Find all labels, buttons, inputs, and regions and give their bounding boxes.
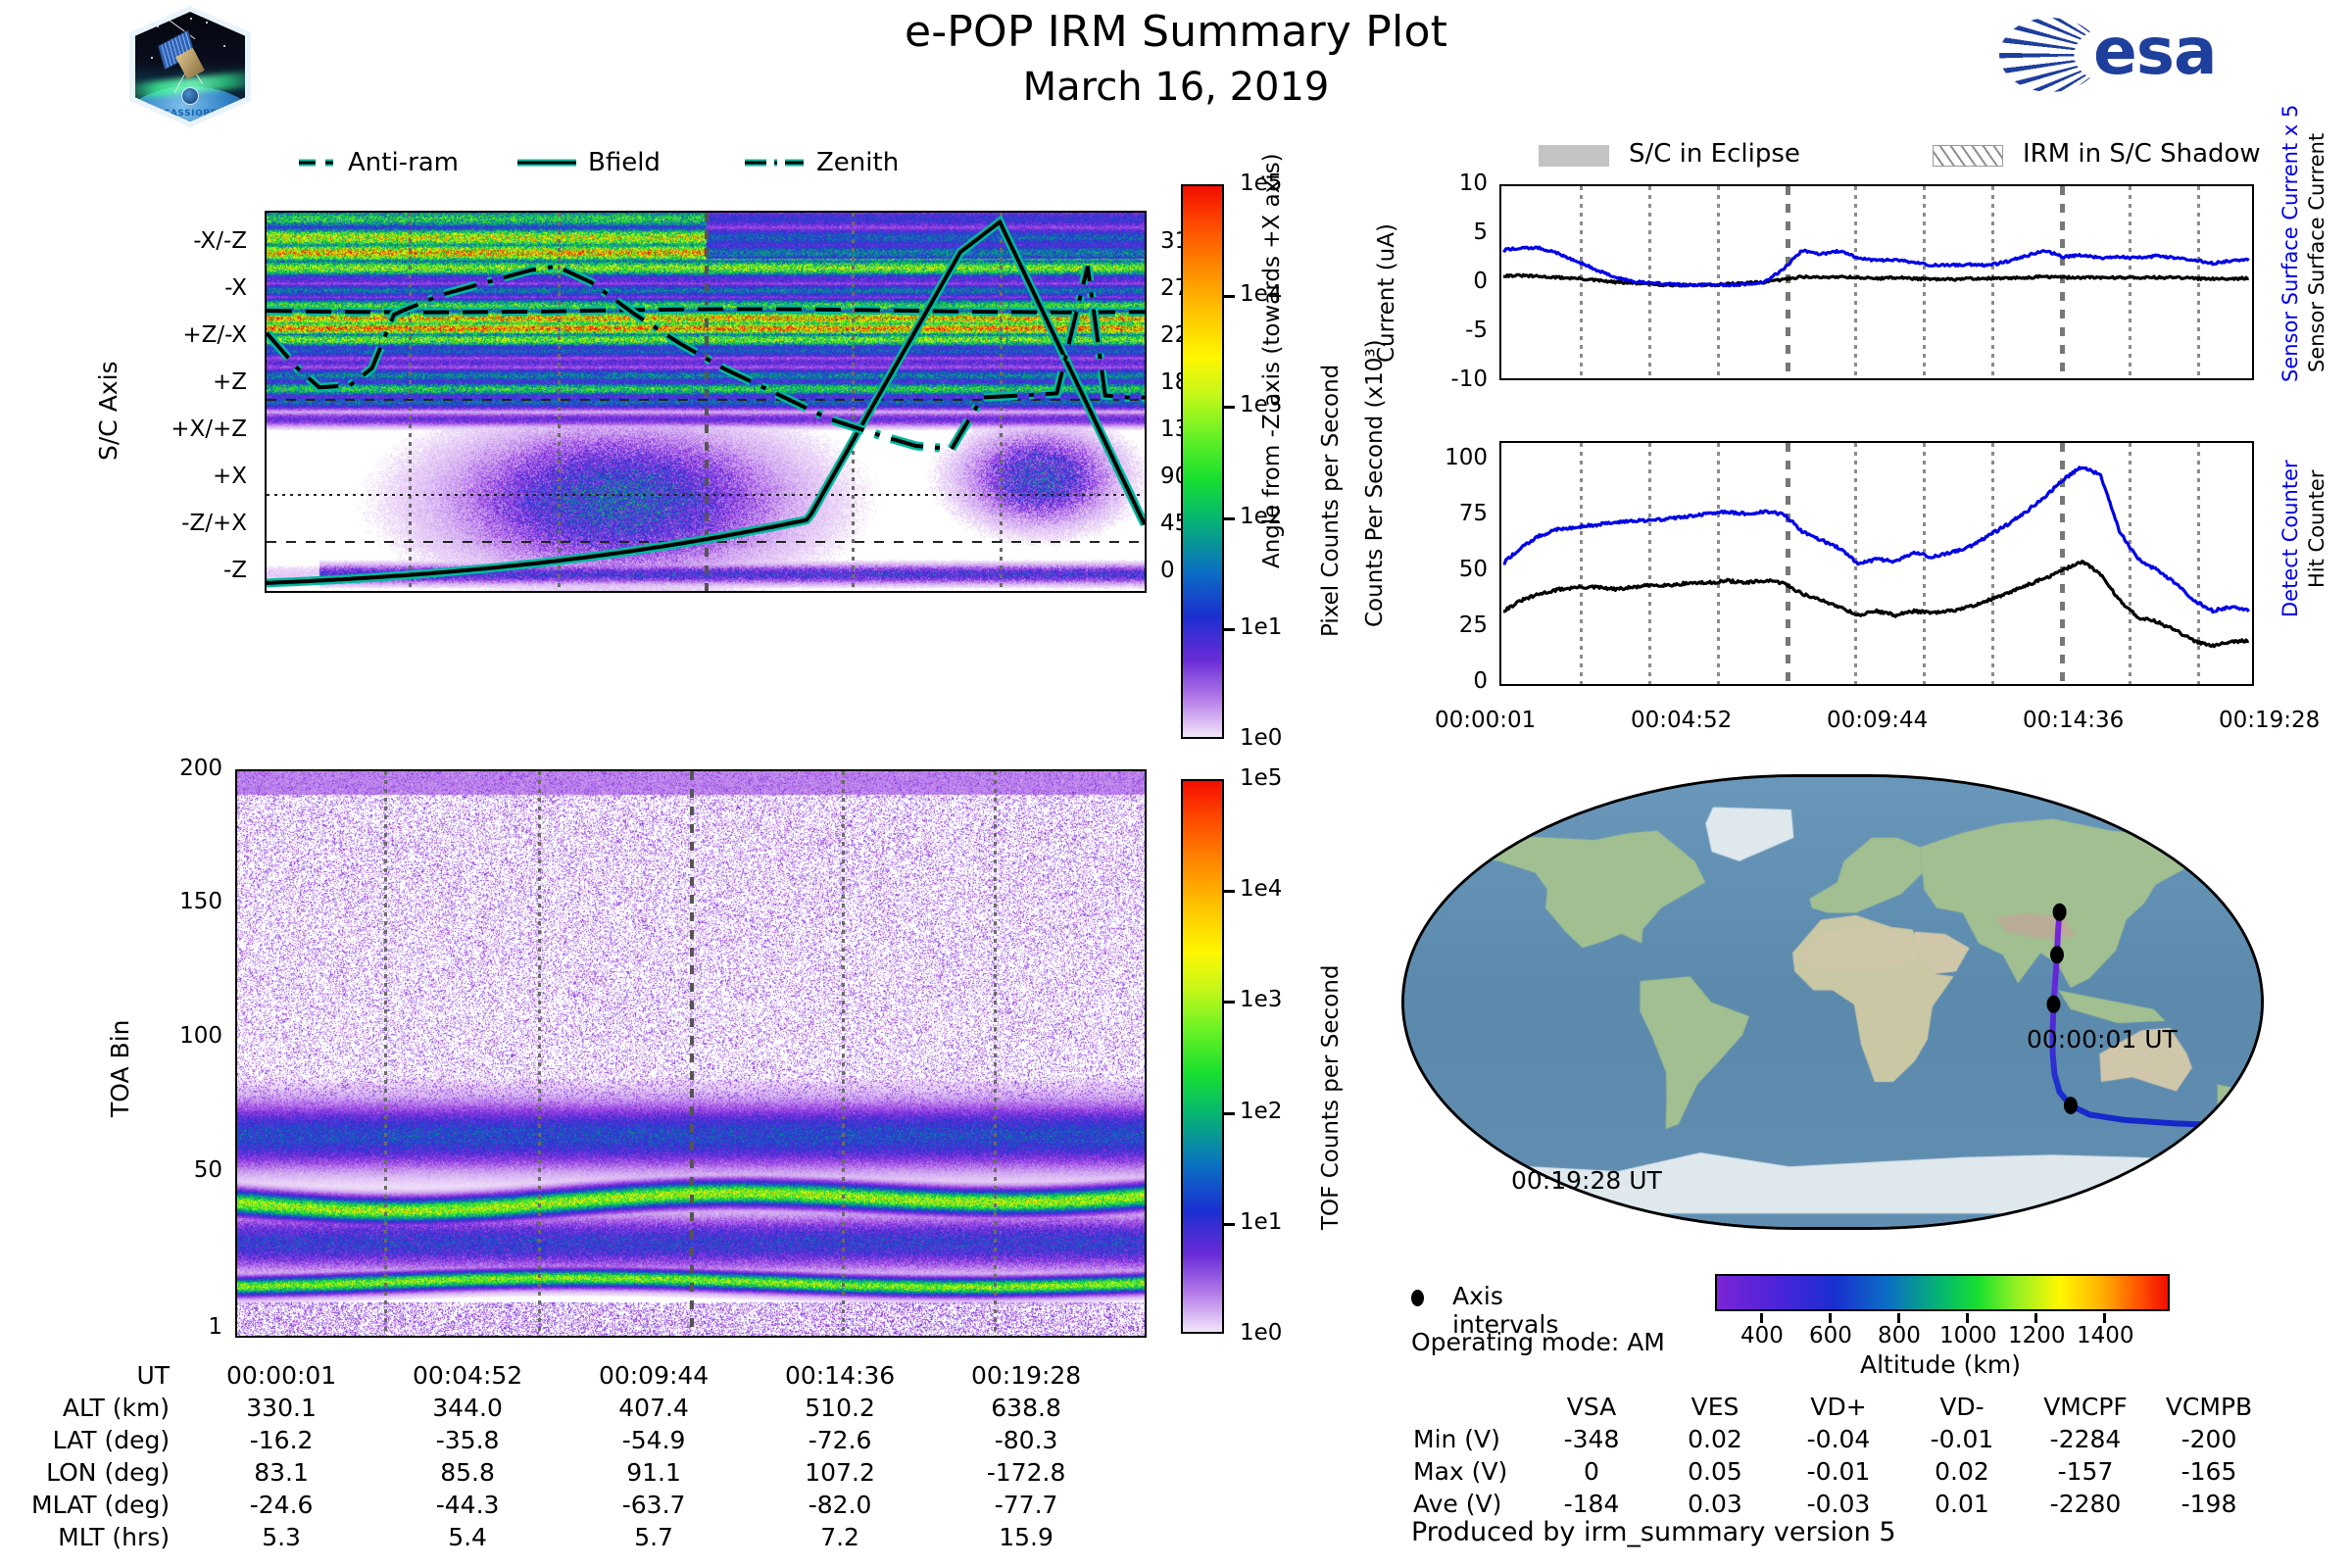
panel-c-ytick-0: 0 bbox=[1473, 269, 1488, 294]
alt-tick-1400: 1400 bbox=[2077, 1323, 2134, 1348]
panel-d-ytick-100: 100 bbox=[1445, 445, 1488, 470]
table-header-row: VSA VES VD+ VD- VMCPF VCMPB bbox=[1413, 1392, 2270, 1422]
ut-c2: 00:09:44 bbox=[562, 1360, 746, 1391]
panel-b-ytick-50: 50 bbox=[194, 1157, 222, 1183]
right-legend: S/C in Eclipse IRM in S/C Shadow bbox=[1539, 137, 2283, 176]
lat-c2: -54.9 bbox=[562, 1425, 746, 1455]
legend-bfield: Bfield bbox=[588, 148, 661, 177]
volt-row-max: Max (V) bbox=[1413, 1456, 1529, 1487]
legend-anti-ram: Anti-ram bbox=[348, 148, 459, 177]
altitude-colorbar bbox=[1715, 1274, 2170, 1311]
panel-b-ytick-150: 150 bbox=[179, 889, 222, 914]
esa-logo: esa bbox=[1999, 10, 2323, 102]
alt-tick-1000: 1000 bbox=[1939, 1323, 1997, 1348]
shadow-swatch-icon bbox=[1933, 145, 2003, 167]
volt-col-vsa: VSA bbox=[1531, 1392, 1652, 1422]
lat-c1: -35.8 bbox=[375, 1425, 560, 1455]
ground-track-map: 00:00:01 UT 00:19:28 UT bbox=[1401, 774, 2264, 1230]
panel-a-ytick-4: +X/+Z bbox=[171, 416, 247, 442]
panel-d-ytick-0: 0 bbox=[1473, 668, 1488, 694]
table-row: MLAT (deg) -24.6 -44.3 -63.7 -82.0 -77.7 bbox=[31, 1490, 1118, 1520]
panel-b-cbar-1e1: 1e1 bbox=[1240, 1209, 1282, 1235]
panel-d-ylabel: Counts Per Second (x10³) bbox=[1362, 339, 1388, 627]
panel-b-ytick-200: 200 bbox=[179, 756, 222, 781]
mlt-c3: 7.2 bbox=[748, 1522, 932, 1552]
volt-col-ves: VES bbox=[1654, 1392, 1776, 1422]
panel-b-cbar-1e3: 1e3 bbox=[1240, 987, 1282, 1012]
mlt-c0: 5.3 bbox=[189, 1522, 373, 1552]
mlat-c0: -24.6 bbox=[189, 1490, 373, 1520]
table-row: UT 00:00:01 00:04:52 00:09:44 00:14:36 0… bbox=[31, 1360, 1118, 1391]
panel-b-colorbar bbox=[1181, 779, 1224, 1334]
panel-d-xtick-0: 00:00:01 bbox=[1435, 708, 1536, 733]
panel-a-ytick-1: -X bbox=[224, 275, 247, 301]
lon-c1: 85.8 bbox=[375, 1457, 560, 1488]
alt-tick-600: 600 bbox=[1809, 1323, 1852, 1348]
panel-a-spectrogram bbox=[265, 211, 1147, 593]
min-vdm: -0.01 bbox=[1901, 1424, 2023, 1454]
panel-d-ytick-25: 25 bbox=[1459, 612, 1488, 638]
voltage-table: VSA VES VD+ VD- VMCPF VCMPB Min (V) -348… bbox=[1411, 1390, 2272, 1521]
max-vdm: 0.02 bbox=[1901, 1456, 2023, 1487]
lon-c4: -172.8 bbox=[934, 1457, 1118, 1488]
mlat-c2: -63.7 bbox=[562, 1490, 746, 1520]
max-vcmpb: -165 bbox=[2148, 1456, 2270, 1487]
lon-c3: 107.2 bbox=[748, 1457, 932, 1488]
panel-a-ytick-2: +Z/-X bbox=[182, 322, 247, 348]
panel-a-cbar-1e3: 1e3 bbox=[1240, 392, 1282, 417]
volt-col-vdm: VD- bbox=[1901, 1392, 2023, 1422]
mlt-c1: 5.4 bbox=[375, 1522, 560, 1552]
ave-ves: 0.03 bbox=[1654, 1489, 1776, 1519]
alt-c2: 407.4 bbox=[562, 1393, 746, 1423]
panel-a-ytick-5: +X bbox=[213, 464, 247, 489]
table-row: LAT (deg) -16.2 -35.8 -54.9 -72.6 -80.3 bbox=[31, 1425, 1118, 1455]
panel-a-colorbar bbox=[1181, 184, 1224, 739]
legend-irm-shadow: IRM in S/C Shadow bbox=[2023, 139, 2261, 169]
panel-a-ytick-7: -Z bbox=[223, 558, 247, 583]
lat-c3: -72.6 bbox=[748, 1425, 932, 1455]
panel-c-ytick-m10: -10 bbox=[1450, 367, 1488, 392]
volt-col-vcmpb: VCMPB bbox=[2148, 1392, 2270, 1422]
panel-b-colorbar-label: TOF Counts per Second bbox=[1318, 965, 1344, 1230]
panel-d-counts-plot bbox=[1499, 441, 2254, 686]
ut-c0: 00:00:01 bbox=[189, 1360, 373, 1391]
max-vmcpf: -157 bbox=[2025, 1456, 2146, 1487]
panel-d-y-ticklabels: 100 75 50 25 0 bbox=[1401, 441, 1495, 686]
panel-d-xtick-3: 00:14:36 bbox=[2023, 708, 2124, 733]
panel-a-y-ticklabels: -X/-Z -X +Z/-X +Z +X/+Z +X -Z/+X -Z bbox=[108, 211, 255, 593]
map-start-label: 00:00:01 UT bbox=[2027, 1025, 2178, 1053]
panel-b-ytick-100: 100 bbox=[179, 1023, 222, 1049]
mlt-c4: 15.9 bbox=[934, 1522, 1118, 1552]
panel-a-ytick-6: -Z/+X bbox=[181, 511, 247, 536]
panel-d-ytick-75: 75 bbox=[1459, 501, 1488, 526]
ut-c1: 00:04:52 bbox=[375, 1360, 560, 1391]
panel-a-legend: Anti-ram Bfield Zenith bbox=[294, 145, 1078, 180]
panel-b-cbar-1e4: 1e4 bbox=[1240, 876, 1282, 902]
max-vdp: -0.01 bbox=[1778, 1456, 1899, 1487]
lon-c0: 83.1 bbox=[189, 1457, 373, 1488]
panel-b-cbar-1e0: 1e0 bbox=[1240, 1320, 1282, 1346]
ave-vsa: -184 bbox=[1531, 1489, 1652, 1519]
eclipse-swatch-icon bbox=[1539, 145, 1609, 167]
table-row: Min (V) -348 0.02 -0.04 -0.01 -2284 -200 bbox=[1413, 1424, 2270, 1454]
row-label-mlt: MLT (hrs) bbox=[31, 1522, 187, 1552]
panel-a-cbar-1e5: 1e5 bbox=[1240, 171, 1282, 196]
esa-swoosh-icon bbox=[1999, 18, 2101, 92]
ut-c3: 00:14:36 bbox=[748, 1360, 932, 1391]
panel-a-angle-tick-0: 0 bbox=[1160, 558, 1175, 583]
panel-a-colorbar-label: Pixel Counts per Second bbox=[1318, 365, 1344, 637]
panel-d-x-ticklabels: 00:00:01 00:04:52 00:09:44 00:14:36 00:1… bbox=[1411, 708, 2352, 747]
row-label-mlat: MLAT (deg) bbox=[31, 1490, 187, 1520]
table-row: Ave (V) -184 0.03 -0.03 0.01 -2280 -198 bbox=[1413, 1489, 2270, 1519]
panel-c-y-ticklabels: 10 5 0 -5 -10 bbox=[1401, 184, 1495, 380]
alt-c4: 638.8 bbox=[934, 1393, 1118, 1423]
panel-c-ytick-10: 10 bbox=[1459, 171, 1488, 196]
min-vdp: -0.04 bbox=[1778, 1424, 1899, 1454]
row-label-alt: ALT (km) bbox=[31, 1393, 187, 1423]
altitude-colorbar-label: Altitude (km) bbox=[1860, 1350, 2021, 1379]
min-vcmpb: -200 bbox=[2148, 1424, 2270, 1454]
panel-c-ytick-m5: -5 bbox=[1465, 318, 1488, 343]
alt-c1: 344.0 bbox=[375, 1393, 560, 1423]
panel-b-y-ticklabels: 200 150 100 50 1 bbox=[118, 769, 230, 1338]
table-row: Max (V) 0 0.05 -0.01 0.02 -157 -165 bbox=[1413, 1456, 2270, 1487]
panel-a-ytick-3: +Z bbox=[213, 369, 247, 395]
mlat-c4: -77.7 bbox=[934, 1490, 1118, 1520]
esa-wordmark: esa bbox=[2093, 16, 2217, 88]
mlat-c3: -82.0 bbox=[748, 1490, 932, 1520]
panel-b-cbar-1e5: 1e5 bbox=[1240, 765, 1282, 791]
ave-vdm: 0.01 bbox=[1901, 1489, 2023, 1519]
panel-d-right-label-black: Hit Counter bbox=[2305, 470, 2328, 588]
ave-vcmpb: -198 bbox=[2148, 1489, 2270, 1519]
mlt-c2: 5.7 bbox=[562, 1522, 746, 1552]
table-row: ALT (km) 330.1 344.0 407.4 510.2 638.8 bbox=[31, 1393, 1118, 1423]
max-ves: 0.05 bbox=[1654, 1456, 1776, 1487]
panel-d-xtick-2: 00:09:44 bbox=[1827, 708, 1928, 733]
alt-tick-400: 400 bbox=[1740, 1323, 1784, 1348]
row-label-ut: UT bbox=[31, 1360, 187, 1391]
panel-b-cbar-1e2: 1e2 bbox=[1240, 1099, 1282, 1124]
alt-c3: 510.2 bbox=[748, 1393, 932, 1423]
min-vmcpf: -2284 bbox=[2025, 1424, 2146, 1454]
panel-a-colorbar-ticklabels: 1e5 1e4 1e3 1e2 1e1 1e0 bbox=[1224, 184, 1332, 739]
min-ves: 0.02 bbox=[1654, 1424, 1776, 1454]
axis-interval-dot-icon bbox=[1411, 1290, 1424, 1306]
min-vsa: -348 bbox=[1531, 1424, 1652, 1454]
legend-zenith: Zenith bbox=[816, 148, 899, 177]
lat-c0: -16.2 bbox=[189, 1425, 373, 1455]
row-label-lat: LAT (deg) bbox=[31, 1425, 187, 1455]
map-end-label: 00:19:28 UT bbox=[1511, 1166, 1662, 1195]
panel-d-xtick-4: 00:19:28 bbox=[2219, 708, 2320, 733]
table-row: MLT (hrs) 5.3 5.4 5.7 7.2 15.9 bbox=[31, 1522, 1118, 1552]
volt-corner bbox=[1413, 1392, 1529, 1422]
panel-a-ytick-0: -X/-Z bbox=[193, 228, 247, 254]
operating-mode: Operating mode: AM bbox=[1411, 1328, 1665, 1356]
ut-c4: 00:19:28 bbox=[934, 1360, 1118, 1391]
max-vsa: 0 bbox=[1531, 1456, 1652, 1487]
ave-vdp: -0.03 bbox=[1778, 1489, 1899, 1519]
panel-a-cbar-1e4: 1e4 bbox=[1240, 281, 1282, 307]
lat-c4: -80.3 bbox=[934, 1425, 1118, 1455]
lon-c2: 91.1 bbox=[562, 1457, 746, 1488]
panel-d-ytick-50: 50 bbox=[1459, 557, 1488, 582]
ave-vmcpf: -2280 bbox=[2025, 1489, 2146, 1519]
panel-a-cbar-1e1: 1e1 bbox=[1240, 614, 1282, 640]
volt-row-ave: Ave (V) bbox=[1413, 1489, 1529, 1519]
volt-col-vdp: VD+ bbox=[1778, 1392, 1899, 1422]
panel-c-current-plot bbox=[1499, 184, 2254, 380]
panel-d-xtick-1: 00:04:52 bbox=[1631, 708, 1732, 733]
panel-a-cbar-1e0: 1e0 bbox=[1240, 725, 1282, 751]
legend-sc-eclipse: S/C in Eclipse bbox=[1629, 139, 1800, 169]
panel-b-colorbar-ticklabels: 1e5 1e4 1e3 1e2 1e1 1e0 bbox=[1224, 779, 1332, 1334]
ephemeris-table: UT 00:00:01 00:04:52 00:09:44 00:14:36 0… bbox=[29, 1358, 1120, 1554]
panel-b-ytick-1: 1 bbox=[208, 1314, 222, 1340]
panel-b-spectrogram bbox=[235, 769, 1147, 1338]
panel-c-ytick-5: 5 bbox=[1473, 220, 1488, 245]
table-row: LON (deg) 83.1 85.8 91.1 107.2 -172.8 bbox=[31, 1457, 1118, 1488]
panel-a-cbar-1e2: 1e2 bbox=[1240, 504, 1282, 529]
row-label-lon: LON (deg) bbox=[31, 1457, 187, 1488]
altitude-colorbar-ticklabels: 400 600 800 1000 1200 1400 bbox=[1715, 1313, 2176, 1352]
volt-col-vmcpf: VMCPF bbox=[2025, 1392, 2146, 1422]
alt-tick-800: 800 bbox=[1878, 1323, 1921, 1348]
volt-row-min: Min (V) bbox=[1413, 1424, 1529, 1454]
mlat-c1: -44.3 bbox=[375, 1490, 560, 1520]
footer-credit: Produced by irm_summary version 5 bbox=[1411, 1517, 1896, 1547]
alt-tick-1200: 1200 bbox=[2008, 1323, 2066, 1348]
panel-d-ylabel-text: Counts Per Second (x10³) bbox=[1362, 339, 1388, 627]
panel-d-right-label-blue: Detect Counter bbox=[2278, 460, 2302, 617]
panel-c-right-label-blue: Sensor Surface Current x 5 bbox=[2278, 105, 2302, 382]
alt-c0: 330.1 bbox=[189, 1393, 373, 1423]
panel-c-right-label-black: Sensor Surface Current bbox=[2305, 133, 2328, 372]
